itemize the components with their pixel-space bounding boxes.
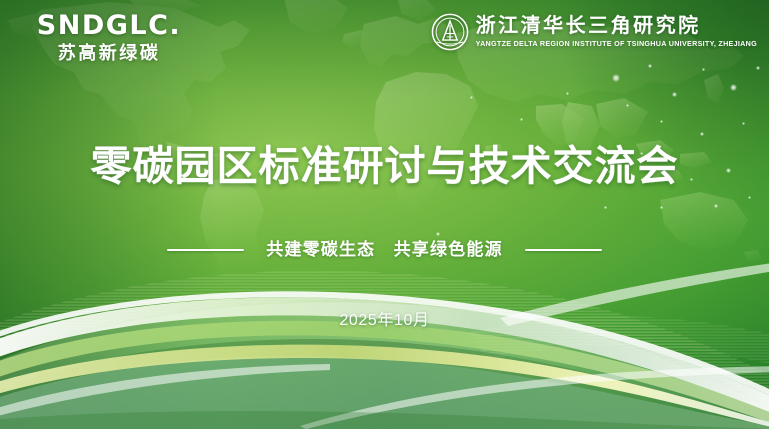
sndglc-logo[interactable]: SNDGLC. 苏高新绿碳 <box>24 12 194 62</box>
subtitle-text: 共建零碳生态 共享绿色能源 <box>266 241 503 258</box>
page-title: 零碳园区标准研讨与技术交流会 <box>0 146 769 187</box>
institute-english-name: YANGTZE DELTA REGION INSTITUTE OF TSINGH… <box>476 40 757 49</box>
subtitle-rule-right <box>525 249 602 251</box>
sndglc-wordmark: SNDGLC. <box>24 12 194 39</box>
sndglc-chinese-name: 苏高新绿碳 <box>24 44 194 62</box>
institute-logo[interactable]: 浙江清华长三角研究院 YANGTZE DELTA REGION INSTITUT… <box>431 13 757 51</box>
institute-emblem-icon <box>431 13 469 51</box>
conference-banner: SNDGLC. 苏高新绿碳 浙江清华长三角研究院 YANGTZE DELTA R… <box>0 0 769 429</box>
event-date: 2025年10月 <box>0 313 769 329</box>
institute-chinese-name: 浙江清华长三角研究院 <box>476 15 757 38</box>
subtitle-rule-left <box>167 249 244 251</box>
subtitle-row: 共建零碳生态 共享绿色能源 <box>0 241 769 258</box>
